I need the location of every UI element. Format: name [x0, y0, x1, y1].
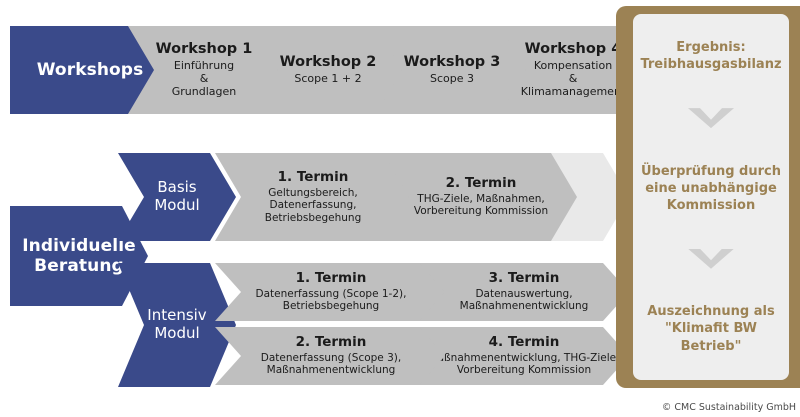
basis-label-text: BasisModul — [154, 179, 199, 214]
workshop-step-3-sub: Scope 3 — [430, 73, 474, 86]
outcome-step-3: Auszeichnung als"Klimafit BWBetrieb" — [647, 303, 774, 354]
workshop-step-3-title: Workshop 3 — [404, 54, 501, 71]
intensiv-termin-3-sub: Datenauswertung,Maßnahmenentwicklung — [460, 288, 589, 313]
intensiv-termin-4[interactable]: 4. Termin Maßnahmenentwicklung, THG-Ziel… — [419, 327, 629, 385]
intensiv-termin-2[interactable]: 2. Termin Datenerfassung (Scope 3),Maßna… — [215, 327, 447, 385]
workshops-label-text: Workshops — [37, 60, 144, 80]
chevron-down-icon — [688, 108, 734, 128]
intensiv-termin-1-sub: Datenerfassung (Scope 1-2),Betriebsbegeh… — [256, 288, 407, 313]
intensiv-termin-2-title: 2. Termin — [296, 335, 367, 351]
beratung-label-text: IndividuelleBeratung — [22, 236, 136, 276]
outcome-step-2: Überprüfung durcheine unabhängigeKommiss… — [641, 163, 781, 214]
workshop-step-1-title: Workshop 1 — [156, 41, 253, 58]
module-label-intensiv: IntensivModul — [118, 263, 236, 387]
workshop-step-2-sub: Scope 1 + 2 — [294, 73, 361, 86]
workshop-step-4-title: Workshop 4 — [525, 41, 622, 58]
basis-termin-2-title: 2. Termin — [446, 176, 517, 192]
chevron-down-icon — [688, 249, 734, 269]
outcome-panel: Ergebnis:Treibhausgasbilanz Überprüfung … — [633, 14, 789, 380]
intensiv-termin-2-sub: Datenerfassung (Scope 3),Maßnahmenentwic… — [261, 352, 401, 377]
workshop-step-4-sub: Kompensation&Klimamanagement — [521, 60, 625, 99]
copyright-notice: © CMC Sustainability GmbH — [662, 402, 796, 413]
outcome-step-1: Ergebnis:Treibhausgasbilanz — [640, 39, 781, 73]
intensiv-termin-4-title: 4. Termin — [489, 335, 560, 351]
workshop-step-1-sub: Einführung&Grundlagen — [172, 60, 237, 99]
intensiv-termin-1-title: 1. Termin — [296, 271, 367, 287]
process-diagram: Workshops Workshop 1 Einführung&Grundlag… — [0, 0, 800, 417]
intensiv-label-text: IntensivModul — [147, 307, 206, 342]
basis-termin-2[interactable]: 2. Termin THG-Ziele, Maßnahmen,Vorbereit… — [383, 153, 579, 241]
workshop-step-2-title: Workshop 2 — [280, 54, 377, 71]
basis-termin-1-sub: Geltungsbereich,Datenerfassung,Betriebsb… — [265, 187, 362, 224]
basis-termin-1[interactable]: 1. Termin Geltungsbereich,Datenerfassung… — [215, 153, 411, 241]
intensiv-termin-3[interactable]: 3. Termin Datenauswertung,Maßnahmenentwi… — [419, 263, 629, 321]
category-label-individuelle-beratung: IndividuelleBeratung — [10, 206, 148, 306]
intensiv-termin-3-title: 3. Termin — [489, 271, 560, 287]
intensiv-termin-4-sub: Maßnahmenentwicklung, THG-Ziele,Vorberei… — [429, 352, 620, 377]
basis-termin-1-title: 1. Termin — [278, 170, 349, 186]
intensiv-termin-1[interactable]: 1. Termin Datenerfassung (Scope 1-2),Bet… — [215, 263, 447, 321]
module-label-basis: BasisModul — [118, 153, 236, 241]
basis-termin-2-sub: THG-Ziele, Maßnahmen,Vorbereitung Kommis… — [414, 193, 548, 218]
